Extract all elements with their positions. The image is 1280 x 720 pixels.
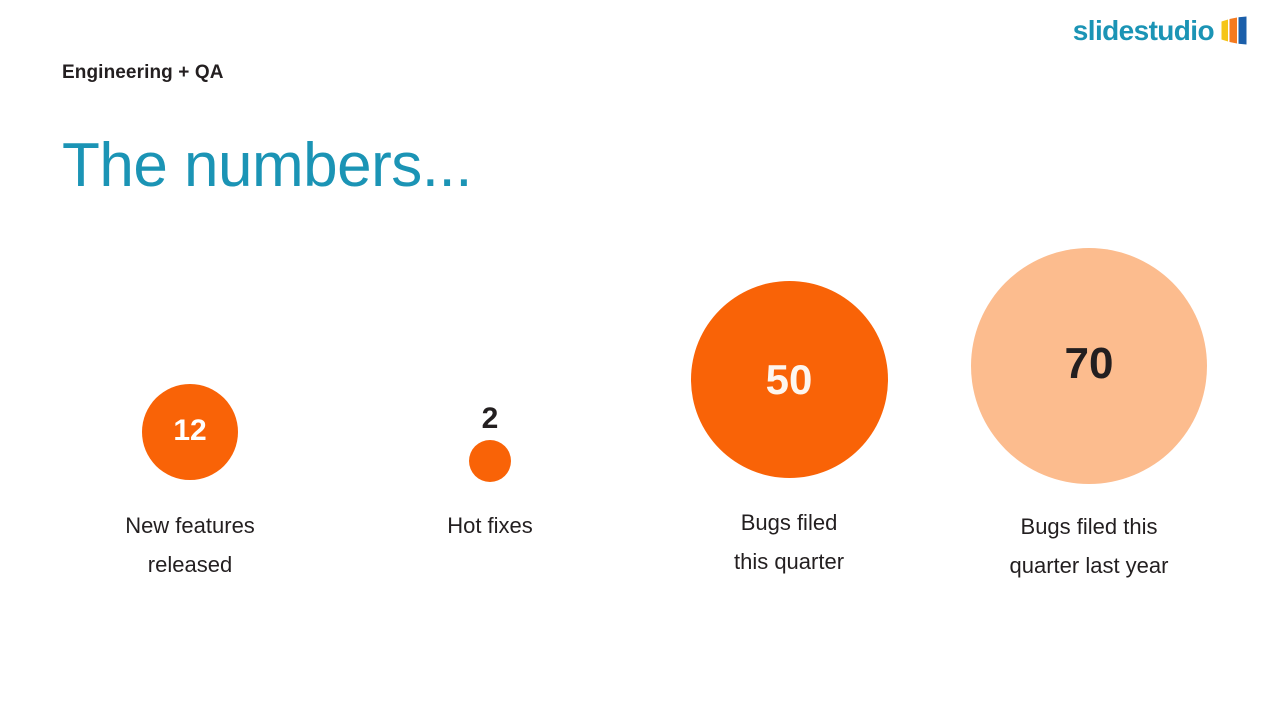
stat-bugs-quarter: 50 Bugs filed this quarter [689, 281, 889, 581]
stat-label-new-features: New features released [125, 507, 255, 584]
stat-value-bugs-lastyear: 70 [1065, 342, 1114, 386]
stat-label-line: Hot fixes [447, 507, 533, 546]
bubble-hot-fixes [469, 440, 511, 482]
bubble-bugs-lastyear: 70 [971, 248, 1207, 484]
slide-canvas: slidestudio Engineering + QA The numbers… [0, 0, 1280, 720]
stat-label-bugs-quarter: Bugs filed this quarter [734, 504, 844, 581]
stat-value-bugs-quarter: 50 [766, 359, 813, 401]
stat-label-line: released [125, 546, 255, 585]
bubble-slot-bugs-quarter: 50 [691, 281, 888, 478]
slidestudio-bars-icon [1220, 16, 1248, 45]
bubble-bugs-quarter: 50 [691, 281, 888, 478]
bubble-slot-hot-fixes: 2 [469, 400, 511, 482]
stat-value-hot-fixes: 2 [482, 404, 499, 434]
stat-label-line: Bugs filed this [1010, 508, 1169, 547]
bubble-new-features: 12 [142, 384, 238, 480]
stat-label-bugs-lastyear: Bugs filed this quarter last year [1010, 508, 1169, 585]
page-title: The numbers... [62, 132, 472, 200]
stat-hot-fixes: 2 Hot fixes [390, 400, 590, 546]
stat-value-new-features: 12 [173, 416, 206, 446]
stat-label-line: quarter last year [1010, 547, 1169, 586]
stat-new-features: 12 New features released [90, 384, 290, 584]
bubble-slot-new-features: 12 [142, 384, 238, 480]
stat-label-line: Bugs filed [734, 504, 844, 543]
stat-label-line: New features [125, 507, 255, 546]
stat-bugs-lastyear: 70 Bugs filed this quarter last year [971, 248, 1207, 585]
brand-logo: slidestudio [1073, 16, 1248, 45]
logo-wordmark: slidestudio [1073, 17, 1214, 45]
stat-label-hot-fixes: Hot fixes [447, 507, 533, 546]
bubble-slot-bugs-lastyear: 70 [971, 248, 1207, 484]
stat-label-line: this quarter [734, 543, 844, 582]
slide-eyebrow: Engineering + QA [62, 62, 224, 85]
